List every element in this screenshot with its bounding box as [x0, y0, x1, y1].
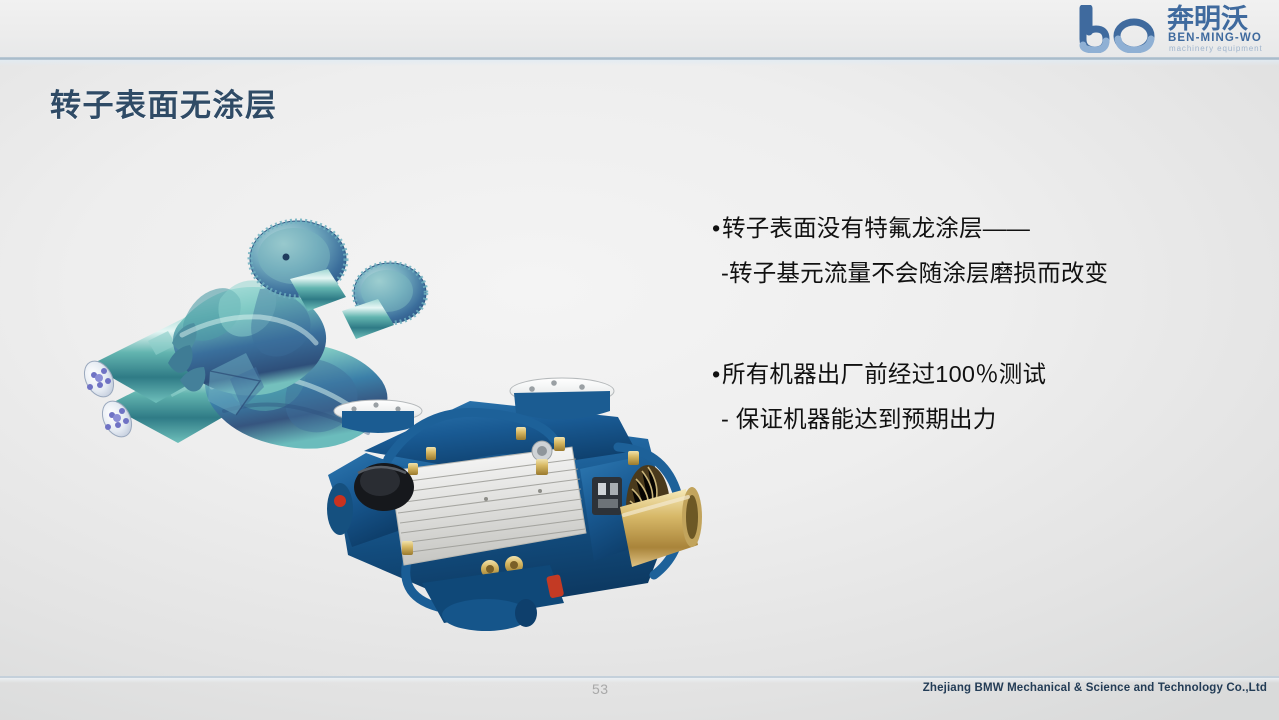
company-footer-text: Zhejiang BMW Mechanical & Science and Te…: [923, 682, 1267, 694]
bullet-2-heading: 所有机器出厂前经过100％测试: [722, 361, 1046, 387]
bo-monogram-icon: [1079, 5, 1165, 53]
bullet-marker-1: •: [712, 206, 722, 251]
presentation-slide: 奔明沃 BEN-MING-WO machinery equipment 转子表面…: [0, 0, 1279, 720]
bullet-1-heading-line: •转子表面没有特氟龙涂层——: [712, 206, 1252, 251]
text-block-spacer: [712, 296, 1252, 352]
page-number: 53: [592, 681, 609, 697]
logo-chinese-name: 奔明沃: [1167, 4, 1248, 34]
bullet-marker-2: •: [712, 352, 722, 397]
screw-compressor-image: [318, 355, 728, 645]
slide-body-text: •转子表面没有特氟龙涂层—— -转子基元流量不会随涂层磨损而改变 •所有机器出厂…: [712, 206, 1252, 442]
bullet-2-detail: - 保证机器能达到预期出力: [712, 397, 1252, 442]
bullet-1-detail: -转子基元流量不会随涂层磨损而改变: [712, 251, 1252, 296]
bullet-1-heading: 转子表面没有特氟龙涂层——: [722, 215, 1030, 241]
page-title: 转子表面无涂层: [50, 80, 278, 125]
brand-logo: 奔明沃 BEN-MING-WO machinery equipment: [1075, 2, 1271, 56]
bullet-block-1: •转子表面没有特氟龙涂层—— -转子基元流量不会随涂层磨损而改变: [712, 206, 1252, 296]
logo-tagline: machinery equipment: [1169, 44, 1263, 53]
logo-latin-name: BEN-MING-WO: [1168, 32, 1262, 44]
bullet-2-heading-line: •所有机器出厂前经过100％测试: [712, 352, 1252, 397]
header-divider-glow: [0, 60, 1279, 66]
bullet-block-2: •所有机器出厂前经过100％测试 - 保证机器能达到预期出力: [712, 352, 1252, 442]
